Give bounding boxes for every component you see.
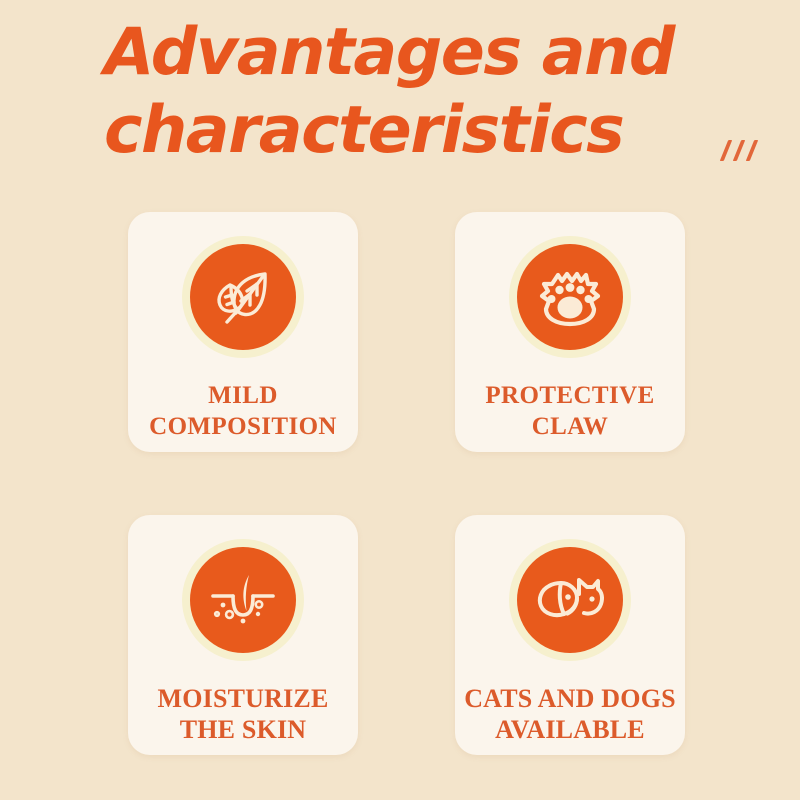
- feature-card-label-line-2: AVAILABLE: [439, 714, 701, 745]
- icon-badge: [509, 539, 631, 661]
- icon-badge: [182, 539, 304, 661]
- slash-mark-3: [746, 140, 758, 161]
- feature-card-label-line-2: THE SKIN: [112, 714, 374, 745]
- icon-disc: [517, 244, 623, 350]
- leaf-icon: [210, 264, 276, 330]
- feature-card-label-line-2: CLAW: [439, 411, 701, 442]
- icon-badge: [509, 236, 631, 358]
- feature-card-moisturize-the-skin[interactable]: MOISTURIZE THE SKIN: [128, 515, 358, 755]
- feature-card-cats-and-dogs-available[interactable]: CATS AND DOGS AVAILABLE: [455, 515, 685, 755]
- feature-card-label: CATS AND DOGS AVAILABLE: [439, 683, 701, 745]
- icon-badge: [182, 236, 304, 358]
- icon-disc: [190, 244, 296, 350]
- feature-card-protective-claw[interactable]: PROTECTIVE CLAW: [455, 212, 685, 452]
- feature-card-label: MILD COMPOSITION: [112, 380, 374, 442]
- page-title-line-1: Advantages and: [104, 14, 724, 92]
- feature-card-label: MOISTURIZE THE SKIN: [112, 683, 374, 745]
- poster-root: Advantages and characteristics: [0, 0, 800, 800]
- slash-mark-2: [733, 140, 745, 161]
- feature-card-label-line-1: MOISTURIZE: [112, 683, 374, 714]
- feature-card-label-line-1: CATS AND DOGS: [439, 683, 701, 714]
- feature-card-label-line-1: PROTECTIVE: [439, 380, 701, 411]
- slash-mark-1: [720, 140, 732, 161]
- icon-disc: [190, 547, 296, 653]
- feature-card-grid: MILD COMPOSITION: [128, 212, 680, 755]
- feature-card-label-line-2: COMPOSITION: [112, 411, 374, 442]
- slashes-decoration-icon: [722, 140, 768, 164]
- cat-dog-icon: [535, 572, 605, 628]
- hair-follicle-icon: [209, 569, 277, 631]
- page-title-line-2: characteristics: [104, 92, 724, 170]
- icon-disc: [517, 547, 623, 653]
- page-title: Advantages and characteristics: [104, 14, 724, 170]
- feature-card-mild-composition[interactable]: MILD COMPOSITION: [128, 212, 358, 452]
- feature-card-label-line-1: MILD: [112, 380, 374, 411]
- paw-icon: [536, 266, 604, 328]
- feature-card-label: PROTECTIVE CLAW: [439, 380, 701, 442]
